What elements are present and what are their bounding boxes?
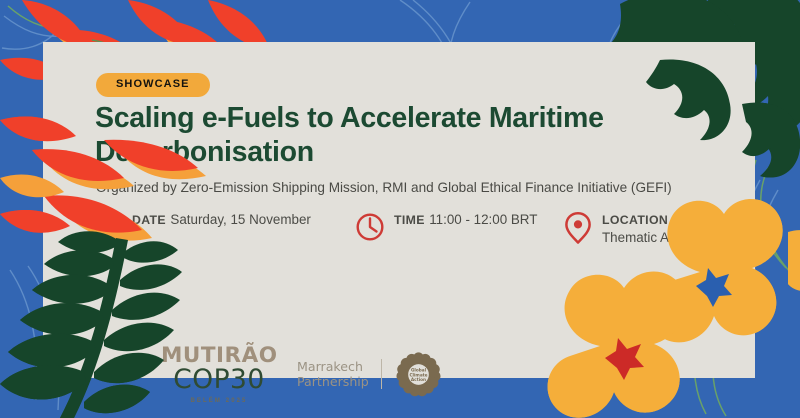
page-title: Scaling e-Fuels to Accelerate Maritime D…	[95, 102, 715, 169]
event-banner: SHOWCASE Scaling e-Fuels to Accelerate M…	[0, 0, 800, 418]
event-card: SHOWCASE Scaling e-Fuels to Accelerate M…	[43, 42, 755, 378]
meta-time-value: 11:00 - 12:00 BRT	[429, 212, 537, 227]
meta-time-label: TIME	[394, 213, 425, 227]
meta-time: TIME 11:00 - 12:00 BRT	[355, 210, 537, 245]
meta-location-value: Thematic Action Room 4	[602, 230, 748, 245]
title-line-2: Decarbonisation	[95, 136, 715, 170]
cop30-title-text: COP30	[161, 367, 277, 394]
calendar-icon	[93, 211, 123, 245]
global-climate-action-logo: Global Climate Action	[395, 351, 442, 398]
meta-date: DATE Saturday, 15 November	[93, 210, 311, 245]
event-meta: DATE Saturday, 15 November TIME 11:00 - …	[93, 210, 743, 256]
meta-date-label: DATE	[132, 213, 166, 227]
marrakech-partnership-block: Marrakech Partnership	[297, 351, 442, 398]
cop30-mutirao-text: MUTIRÃO	[161, 345, 277, 367]
cop30-logo: MUTIRÃO COP30 BELÉM 2025	[161, 345, 277, 404]
title-line-1: Scaling e-Fuels to Accelerate Maritime	[95, 102, 604, 134]
meta-location-label: LOCATION	[602, 213, 668, 227]
location-pin-icon	[563, 211, 593, 245]
marrakech-line-1: Marrakech	[297, 359, 369, 374]
cop30-belem-text: BELÉM 2025	[161, 398, 277, 404]
gca-line-3: Action	[411, 377, 426, 382]
logo-row: MUTIRÃO COP30 BELÉM 2025 Marrakech Partn…	[161, 343, 442, 405]
marrakech-line-2: Partnership	[297, 374, 369, 389]
showcase-badge: SHOWCASE	[96, 73, 210, 97]
meta-date-value: Saturday, 15 November	[170, 212, 310, 227]
clock-icon	[355, 211, 385, 245]
marrakech-partnership-text: Marrakech Partnership	[297, 359, 382, 390]
meta-location: LOCATION Thematic Action Room 4	[563, 210, 748, 247]
organizer-text: Organized by Zero-Emission Shipping Miss…	[96, 179, 746, 197]
